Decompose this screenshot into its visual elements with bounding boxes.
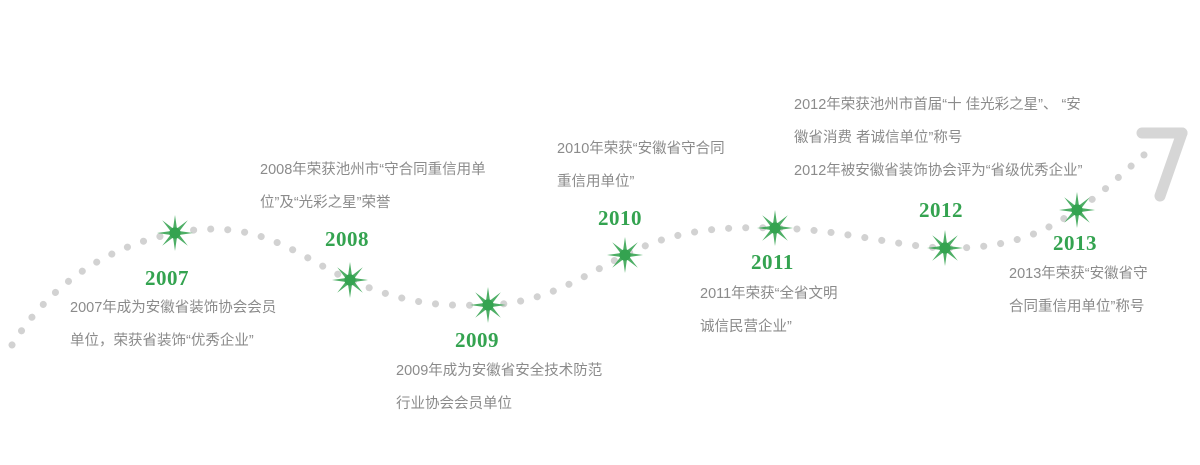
- milestone-year-label-2009: 2009: [455, 328, 499, 353]
- milestone-marker-star-icon-2008: [330, 260, 370, 300]
- milestone-description-2011: 2011年荣获“全省文明诚信民营企业”: [700, 278, 838, 344]
- milestone-description-2010: 2010年荣获“安徽省守合同重信用单位”: [557, 133, 725, 199]
- milestone-description-2007: 2007年成为安徽省装饰协会会员单位，荣获省装饰“优秀企业”: [70, 292, 276, 358]
- milestone-description-2013: 2013年荣获“安徽省守合同重信用单位”称号: [1009, 258, 1148, 324]
- milestone-marker-star-icon-2010: [605, 235, 645, 275]
- milestone-description-line: 2008年荣获池州市“守合同重信用单: [260, 154, 486, 187]
- milestone-description-line: 合同重信用单位”称号: [1009, 291, 1148, 324]
- milestone-year-label-2011: 2011: [751, 250, 794, 275]
- milestone-description-line: 单位，荣获省装饰“优秀企业”: [70, 325, 276, 358]
- milestone-marker-star-icon-2007: [155, 213, 195, 253]
- milestone-year-label-2007: 2007: [145, 266, 189, 291]
- milestone-description-line: 2011年荣获“全省文明: [700, 278, 838, 311]
- milestone-description-2008: 2008年荣获池州市“守合同重信用单位”及“光彩之星”荣誉: [260, 154, 486, 220]
- milestone-description-line: 2009年成为安徽省安全技术防范: [396, 355, 602, 388]
- milestone-description-line: 2013年荣获“安徽省守: [1009, 258, 1148, 291]
- milestone-description-line: 诚信民营企业”: [700, 311, 838, 344]
- timeline-arrowhead-icon: [1142, 133, 1182, 196]
- milestone-description-line: 重信用单位”: [557, 166, 725, 199]
- milestone-description-line: 行业协会会员单位: [396, 388, 602, 421]
- milestone-description-line: 徽省消费 者诚信单位”称号: [794, 122, 1082, 155]
- milestone-description-line: 2012年荣获池州市首届“十 佳光彩之星”、 “安: [794, 89, 1082, 122]
- milestone-marker-star-icon-2013: [1057, 190, 1097, 230]
- milestone-description-line: 2010年荣获“安徽省守合同: [557, 133, 725, 166]
- milestone-year-label-2010: 2010: [598, 206, 642, 231]
- timeline-canvas: 20072007年成为安徽省装饰协会会员单位，荣获省装饰“优秀企业”200820…: [0, 0, 1200, 465]
- milestone-marker-star-icon-2011: [755, 208, 795, 248]
- milestone-marker-star-icon-2012: [925, 228, 965, 268]
- milestone-description-2012: 2012年荣获池州市首届“十 佳光彩之星”、 “安徽省消费 者诚信单位”称号20…: [794, 89, 1082, 188]
- milestone-description-line: 2012年被安徽省装饰协会评为“省级优秀企业”: [794, 155, 1082, 188]
- milestone-description-2009: 2009年成为安徽省安全技术防范行业协会会员单位: [396, 355, 602, 421]
- milestone-year-label-2012: 2012: [919, 198, 963, 223]
- milestone-marker-star-icon-2009: [468, 285, 508, 325]
- milestone-description-line: 位”及“光彩之星”荣誉: [260, 187, 486, 220]
- milestone-description-line: 2007年成为安徽省装饰协会会员: [70, 292, 276, 325]
- milestone-year-label-2013: 2013: [1053, 231, 1097, 256]
- milestone-year-label-2008: 2008: [325, 227, 369, 252]
